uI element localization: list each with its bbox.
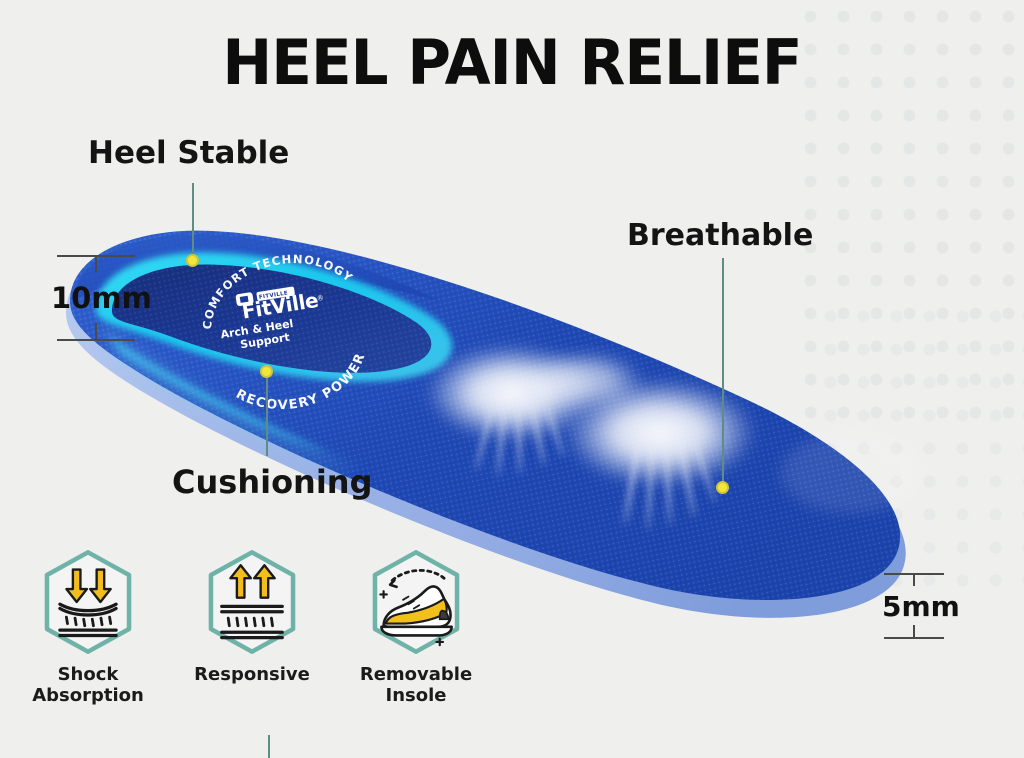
feature-label-line2: Insole bbox=[386, 685, 447, 706]
infographic-canvas: HEEL PAIN RELIEF bbox=[0, 0, 1024, 758]
callout-label-heel-stable: Heel Stable bbox=[88, 135, 289, 171]
feature-badge-row: Shock Absorption bbox=[28, 548, 498, 728]
callout-label-breathable: Breathable bbox=[627, 218, 813, 253]
dimension-value-forefoot: 5mm bbox=[882, 590, 960, 623]
dimension-value-heel: 10mm bbox=[51, 281, 152, 315]
dimension-tick-top bbox=[95, 255, 97, 272]
callout-leader-cropped bbox=[268, 735, 270, 758]
feature-removable-insole: Removable Insole bbox=[356, 548, 476, 728]
callout-dot-cushioning bbox=[260, 365, 273, 378]
dimension-tick-top bbox=[913, 573, 915, 586]
feature-shock-absorption: Shock Absorption bbox=[28, 548, 148, 728]
feature-label-line1: Responsive bbox=[194, 664, 310, 685]
up-arrows-rebound-sole-icon bbox=[198, 548, 306, 656]
callout-label-cushioning: Cushioning bbox=[172, 463, 372, 501]
callout-dot-heel-stable bbox=[186, 254, 199, 267]
callout-leader-heel-stable bbox=[192, 183, 194, 259]
down-arrows-compressed-sole-icon bbox=[34, 548, 142, 656]
page-title: HEEL PAIN RELIEF bbox=[20, 26, 1003, 99]
feature-responsive: Responsive bbox=[192, 548, 312, 728]
callout-leader-cushioning bbox=[266, 371, 268, 456]
dimension-tick-bottom bbox=[95, 323, 97, 340]
callout-dot-breathable bbox=[716, 481, 729, 494]
feature-label-line1: Shock bbox=[58, 664, 119, 685]
feature-label-line1: Removable bbox=[360, 664, 472, 685]
callout-leader-breathable bbox=[722, 258, 724, 486]
dimension-marker-forefoot: 5mm bbox=[884, 573, 944, 639]
dimension-line-bottom bbox=[57, 339, 135, 341]
dimension-line-bottom bbox=[884, 637, 944, 639]
feature-label-line2: Absorption bbox=[32, 685, 144, 706]
shoe-with-removable-insole-icon bbox=[362, 548, 470, 656]
dimension-marker-heel: 10mm bbox=[57, 255, 135, 341]
